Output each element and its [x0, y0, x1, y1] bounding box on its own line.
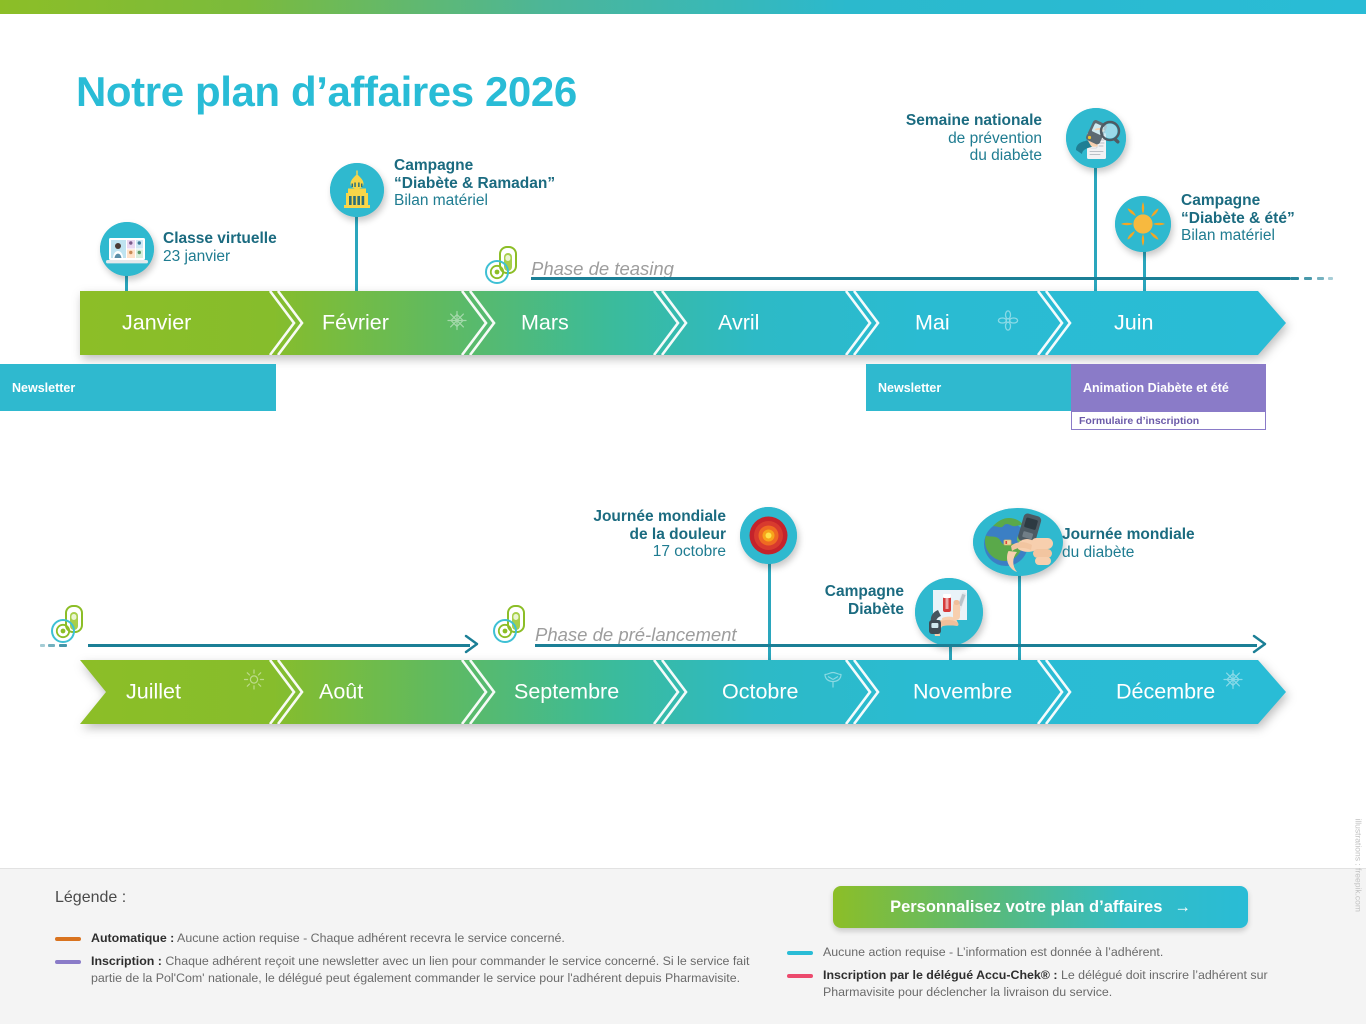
month-label-mai: Mai: [915, 311, 950, 336]
personalize-plan-button[interactable]: Personnalisez votre plan d’affaires →: [833, 886, 1248, 928]
event-stem: [1018, 570, 1021, 664]
service-newsletter-left[interactable]: Newsletter: [0, 364, 276, 411]
service-newsletter-mai[interactable]: Newsletter: [866, 364, 1073, 411]
sun-icon: [1115, 196, 1171, 252]
service-animation-form-link[interactable]: Formulaire d’inscription: [1071, 411, 1266, 430]
month-label-juillet: Juillet: [126, 680, 181, 705]
infographic-page: Notre plan d’affaires 2026 Classe virtue…: [0, 0, 1366, 1024]
event-title: Campagne: [1181, 192, 1295, 210]
mosque-icon: [330, 163, 384, 217]
phase-label-prelancement: Phase de pré-lancement: [535, 624, 737, 646]
cta-label: Personnalisez votre plan d’affaires: [890, 898, 1162, 917]
event-label-semaine-nationale: Semaine nationale de prévention du diabè…: [824, 112, 1042, 165]
event-title: Semaine nationale: [824, 112, 1042, 130]
legend-item-inscription-delegue: Inscription par le délégué Accu-Chek® : …: [787, 967, 1287, 1000]
legend-item-aucune-action: Aucune action requise - L’information es…: [787, 944, 1287, 961]
pill-monitor-icon: [492, 604, 534, 646]
event-subtitle: Bilan matériel: [1181, 227, 1295, 245]
legend-swatch-orange: [55, 937, 81, 941]
event-stem: [355, 210, 358, 298]
month-label-septembre: Septembre: [514, 680, 619, 705]
month-label-decembre: Décembre: [1116, 680, 1215, 705]
legend-strong: Inscription par le délégué Accu-Chek® :: [823, 968, 1058, 982]
event-label-campagne-ramadan: Campagne “Diabète & Ramadan” Bilan matér…: [394, 157, 555, 210]
event-title: Campagne: [394, 157, 555, 175]
rail-arrowhead-end: [1250, 633, 1272, 660]
legend-title: Légende :: [55, 889, 126, 907]
phase-rail-dashes: [1290, 277, 1340, 280]
event-label-journee-douleur: Journée mondiale de la douleur 17 octobr…: [520, 508, 726, 561]
event-title-2: de la douleur: [520, 526, 726, 544]
legend-item-inscription: Inscription : Chaque adhérent reçoit une…: [55, 953, 755, 986]
event-title-2: “Diabète & Ramadan”: [394, 175, 555, 193]
month-label-mars: Mars: [521, 311, 569, 336]
month-label-fevrier: Février: [322, 311, 389, 336]
event-subtitle-2: du diabète: [824, 147, 1042, 165]
top-accent-bar: [0, 0, 1366, 14]
legend-swatch-purple: [55, 960, 81, 964]
legend-text: Inscription par le délégué Accu-Chek® : …: [823, 967, 1287, 1000]
page-title: Notre plan d’affaires 2026: [76, 68, 577, 116]
pain-target-icon: [740, 507, 797, 564]
event-title: Campagne: [760, 583, 904, 601]
service-sub-label: Formulaire d’inscription: [1079, 415, 1199, 427]
legend-item-automatique: Automatique : Aucune action requise - Ch…: [55, 930, 755, 947]
legend-text: Automatique : Aucune action requise - Ch…: [91, 930, 565, 947]
phase-rail-dashes-left: [40, 644, 88, 647]
arrow-right-icon: →: [1174, 898, 1191, 917]
month-label-aout: Août: [319, 680, 363, 705]
flower-icon: [997, 310, 1019, 337]
leaf-icon: [822, 669, 844, 696]
globe-glucometer-icon: [973, 508, 1063, 576]
service-animation-diabete-ete[interactable]: Animation Diabète et été: [1071, 364, 1266, 411]
month-label-octobre: Octobre: [722, 680, 798, 705]
phase-rail-prelaunch-b: [535, 644, 1257, 647]
service-label: Newsletter: [12, 381, 75, 395]
pill-monitor-icon: [484, 245, 526, 287]
legend-body: Aucune action requise - Chaque adhérent …: [174, 931, 565, 945]
snowflake-icon: [1222, 669, 1244, 696]
event-subtitle: de prévention: [824, 130, 1042, 148]
event-title: Classe virtuelle: [163, 230, 277, 248]
legend-strong: Inscription :: [91, 954, 162, 968]
sun-icon: [243, 669, 265, 696]
phase-rail-teasing: [531, 277, 1290, 280]
month-label-novembre: Novembre: [913, 680, 1012, 705]
service-label: Newsletter: [878, 381, 941, 395]
event-subtitle: 17 octobre: [520, 543, 726, 561]
lancet-hand-icon: [915, 578, 983, 646]
event-label-campagne-ete: Campagne “Diabète & été” Bilan matériel: [1181, 192, 1295, 245]
event-label-classe-virtuelle: Classe virtuelle 23 janvier: [163, 230, 277, 265]
legend-body: Aucune action requise - L’information es…: [823, 945, 1163, 959]
phase-rail-prelaunch-a: [88, 644, 470, 647]
event-title-2: Diabète: [760, 601, 904, 619]
month-label-avril: Avril: [718, 311, 759, 336]
rail-arrowhead: [462, 633, 484, 660]
event-title: Journée mondiale: [1062, 526, 1195, 544]
legend-swatch-teal: [787, 951, 813, 955]
service-label: Animation Diabète et été: [1083, 381, 1229, 395]
event-title-2: “Diabète & été”: [1181, 210, 1295, 228]
event-title: Journée mondiale: [520, 508, 726, 526]
timeline-1-month-strip: [80, 291, 1286, 355]
event-subtitle: 23 janvier: [163, 248, 277, 266]
event-subtitle: Bilan matériel: [394, 192, 555, 210]
video-class-icon: [100, 222, 154, 276]
legend-body: Chaque adhérent reçoit une newsletter av…: [91, 954, 749, 985]
legend-text: Aucune action requise - L’information es…: [823, 944, 1163, 961]
month-label-juin: Juin: [1114, 311, 1153, 336]
event-label-journee-diabete: Journée mondiale du diabète: [1062, 526, 1195, 561]
legend-strong: Automatique :: [91, 931, 174, 945]
event-subtitle: du diabète: [1062, 544, 1195, 562]
legend-text: Inscription : Chaque adhérent reçoit une…: [91, 953, 755, 986]
glucometer-report-icon: [1066, 108, 1126, 168]
snowflake-icon: [446, 310, 468, 337]
illustration-credit: illustrations : freepik.com: [1354, 818, 1364, 912]
pill-monitor-icon: [50, 604, 92, 646]
legend-swatch-pink: [787, 974, 813, 978]
event-label-campagne-diabete: Campagne Diabète: [760, 583, 904, 618]
month-label-janvier: Janvier: [122, 311, 191, 336]
